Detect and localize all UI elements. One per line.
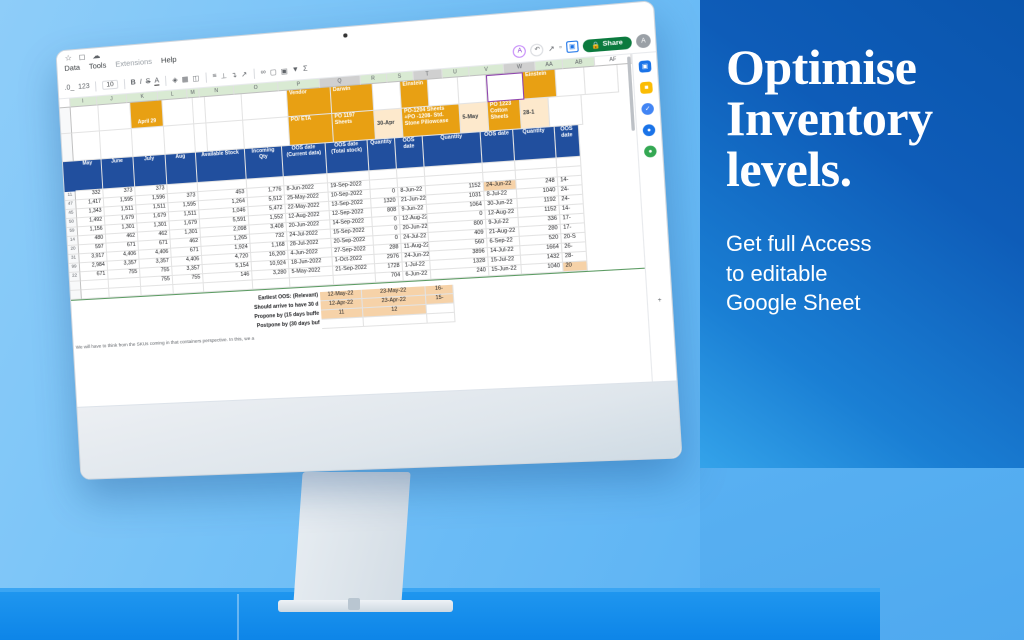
empty-cell[interactable] — [556, 67, 586, 97]
header-oos-date-1[interactable]: OOS date — [395, 136, 425, 169]
cell-june[interactable] — [109, 287, 141, 298]
monitor-screen: ☆ ◻ ☁ Data Tools Extensions Help .0_ — [55, 0, 682, 480]
po-1197-cell[interactable]: PO 1197 Sheets — [332, 111, 376, 143]
text-wrap-icon[interactable]: ↴ — [231, 71, 237, 80]
promo-subheadline: Get full Access to editable Google Sheet — [726, 229, 998, 318]
cell-d3[interactable]: 20 — [563, 261, 588, 272]
monitor-stand-neck — [293, 472, 410, 604]
empty-cell[interactable] — [72, 131, 101, 161]
menu-item-data[interactable]: Data — [64, 63, 80, 73]
avatar[interactable]: A — [636, 34, 651, 49]
menu-item-help[interactable]: Help — [161, 55, 177, 65]
cell-aug[interactable] — [173, 283, 204, 294]
empty-cell[interactable] — [100, 129, 134, 159]
promo-subheadline-line-1: Get full Access — [726, 229, 998, 259]
summary-value[interactable] — [364, 314, 428, 327]
vendor-einstein-1-cell[interactable]: Einstein — [400, 80, 429, 109]
empty-cell[interactable] — [205, 94, 243, 123]
present-icon[interactable]: ▣ — [566, 40, 579, 53]
share-button-label: Share — [602, 39, 623, 48]
text-rotation-icon[interactable]: ↗ — [241, 70, 248, 79]
header-incoming-qty[interactable]: Incoming Qty — [245, 146, 284, 179]
insert-chart-icon[interactable]: ▣ — [281, 66, 288, 75]
cloud-icon[interactable]: ☁ — [92, 51, 100, 61]
toolbar-divider — [205, 72, 207, 82]
editing-mode-icon[interactable]: A — [513, 44, 527, 58]
promo-headline-line-2: Inventory — [726, 93, 998, 144]
cell-d1[interactable]: 6-Jun-22 — [403, 270, 431, 281]
version-history-icon[interactable]: ↶ — [530, 43, 544, 57]
empty-cell[interactable] — [584, 65, 619, 95]
promo-headline: Optimise Inventory levels. — [726, 42, 998, 195]
empty-cell[interactable] — [162, 98, 194, 127]
header-oos-date-total[interactable]: OOS date (Total stock) — [326, 140, 370, 174]
empty-cell[interactable] — [71, 105, 100, 133]
number-format-button[interactable]: 123 — [78, 83, 90, 91]
toolbar-divider — [165, 75, 167, 85]
empty-cell[interactable] — [428, 77, 460, 106]
toolbar-divider — [95, 81, 97, 91]
font-size-input[interactable]: 10 — [102, 80, 118, 90]
header-quantity-3[interactable]: Quantity — [513, 127, 556, 161]
toolbar-divider — [123, 79, 125, 89]
share-button[interactable]: 🔒 Share — [582, 36, 632, 53]
percent-format-button[interactable]: .0_ — [64, 84, 74, 92]
april-29-banner[interactable]: April 29 — [130, 100, 164, 129]
star-icon[interactable]: ☆ — [65, 53, 73, 63]
header-may[interactable]: May — [74, 159, 104, 191]
po-1223-cell[interactable]: PO 1223 Cotton Sheets — [488, 100, 522, 132]
google-calendar-icon[interactable]: ▣ — [639, 60, 652, 73]
trend-icon[interactable]: ↗ — [548, 44, 555, 53]
bold-button[interactable]: B — [131, 79, 136, 86]
horizontal-align-icon[interactable]: ≡ — [212, 73, 217, 80]
toolbar-divider — [253, 68, 255, 78]
monitor-stand-nub — [348, 598, 360, 610]
po-1204-cell[interactable]: PO-1204 Sheets +PO -1208- Std. Stone Pil… — [402, 104, 461, 137]
comment-panel-icon[interactable]: ▫ — [559, 44, 562, 52]
functions-icon[interactable]: Σ — [303, 65, 308, 73]
cell-q1[interactable]: 704 — [376, 272, 404, 283]
empty-cell[interactable] — [206, 121, 244, 152]
vendor-einstein-2-cell[interactable]: Einstein — [523, 70, 558, 100]
empty-cell[interactable] — [132, 127, 166, 158]
eta-30-apr-cell[interactable]: 30-Apr — [374, 109, 403, 140]
promo-subheadline-line-3: Google Sheet — [726, 288, 998, 318]
empty-cell[interactable] — [164, 124, 196, 155]
google-tasks-icon[interactable]: ✓ — [641, 103, 654, 116]
desk-seam — [237, 594, 239, 640]
italic-button[interactable]: I — [140, 79, 142, 86]
empty-cell[interactable] — [242, 91, 289, 121]
promo-panel: Optimise Inventory levels. Get full Acce… — [700, 0, 1024, 468]
empty-cell[interactable] — [548, 95, 583, 127]
lock-icon: 🔒 — [591, 40, 600, 49]
insert-comment-icon[interactable]: ▢ — [270, 67, 277, 76]
menu-item-tools[interactable]: Tools — [89, 60, 107, 70]
google-maps-icon[interactable]: ● — [644, 145, 657, 158]
vertical-align-icon[interactable]: ⊥ — [220, 71, 227, 80]
strikethrough-button[interactable]: S — [146, 78, 151, 85]
fill-color-icon[interactable]: ◈ — [172, 75, 178, 84]
monitor: ☆ ◻ ☁ Data Tools Extensions Help .0_ — [60, 40, 660, 510]
header-aug[interactable]: Aug — [166, 153, 198, 185]
insert-link-icon[interactable]: ∞ — [260, 69, 266, 77]
google-sheets-app: ☆ ◻ ☁ Data Tools Extensions Help .0_ — [56, 1, 681, 479]
cell-may[interactable] — [81, 289, 109, 300]
cell-d2[interactable]: 15-Jun-22 — [489, 265, 522, 276]
monitor-stand-base — [278, 600, 453, 612]
po-eta-label-cell[interactable]: PO/ ETA — [289, 114, 334, 146]
header-quantity-2[interactable]: Quantity — [423, 132, 483, 167]
header-oos-date-3[interactable]: OOS date — [555, 125, 581, 158]
summary-value[interactable] — [427, 313, 455, 324]
header-july[interactable]: July — [133, 155, 167, 187]
vendor-darwin-cell[interactable]: Darwin — [331, 84, 375, 114]
empty-cell[interactable] — [243, 117, 290, 149]
empty-cell[interactable] — [458, 75, 488, 104]
spreadsheet-grid[interactable]: I J K L M N O P Q R S T U V W — [59, 54, 652, 407]
text-color-button[interactable]: A — [154, 77, 159, 85]
eta-28-cell[interactable]: 28-1 — [520, 98, 550, 129]
selected-cell[interactable] — [486, 72, 525, 102]
header-available-stock[interactable]: Available Stock — [196, 149, 247, 183]
cell-july[interactable] — [141, 285, 174, 296]
menu-item-extensions[interactable]: Extensions — [115, 57, 152, 69]
summary-value[interactable] — [322, 318, 364, 329]
filter-icon[interactable]: ▼ — [292, 66, 300, 74]
header-oos-date-current[interactable]: OOS date (Current data) — [282, 143, 328, 177]
google-keep-icon[interactable]: ■ — [640, 81, 653, 94]
promo-headline-line-1: Optimise — [726, 42, 998, 93]
empty-cell[interactable] — [98, 103, 131, 132]
header-quantity-1[interactable]: Quantity — [368, 138, 397, 171]
header-oos-date-2[interactable]: OOS date — [481, 130, 515, 164]
borders-icon[interactable]: ▦ — [182, 74, 189, 83]
vendor-label-cell[interactable]: Vendor — [287, 87, 332, 117]
empty-cell[interactable] — [373, 82, 402, 111]
google-contacts-icon[interactable]: ● — [642, 124, 655, 137]
header-june[interactable]: June — [102, 157, 136, 189]
merge-cells-icon[interactable]: ◫ — [192, 74, 199, 83]
add-icon[interactable]: + — [653, 294, 666, 306]
promo-headline-line-3: levels. — [726, 144, 998, 195]
move-icon[interactable]: ◻ — [78, 52, 85, 62]
eta-5-may-cell[interactable]: 5-May — [459, 102, 489, 133]
row-header[interactable] — [71, 290, 82, 300]
promo-subheadline-line-2: to editable — [726, 259, 998, 289]
webcam-dot — [343, 33, 347, 37]
